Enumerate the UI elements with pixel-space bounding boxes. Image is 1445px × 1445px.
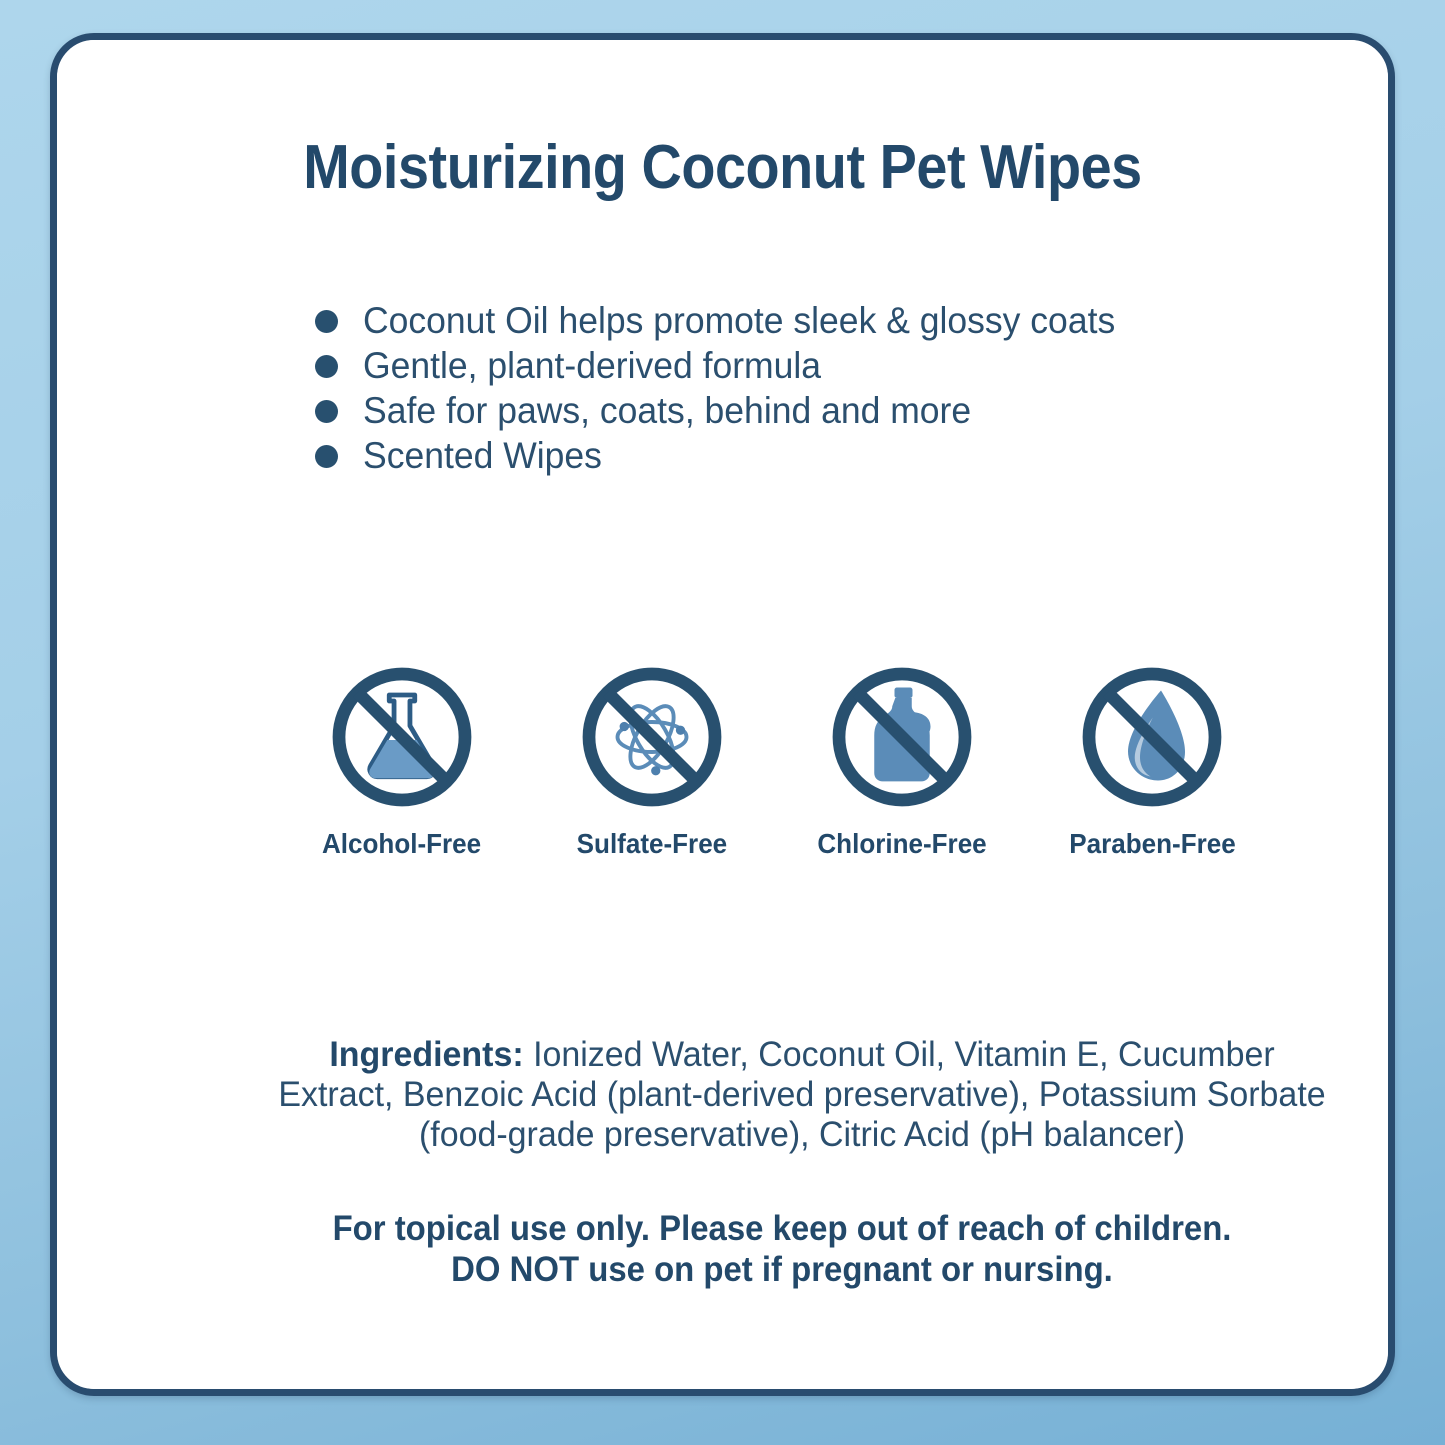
ingredients-paragraph: Ingredients: Ionized Water, Coconut Oil,… [278,1035,1326,1155]
badge-label: Paraben-Free [1069,828,1235,860]
benefit-text: Coconut Oil helps promote sleek & glossy… [363,298,1115,343]
badge-label: Alcohol-Free [322,828,481,860]
benefit-text: Gentle, plant-derived formula [363,343,821,388]
no-bleach-jug-icon [827,662,977,812]
no-atom-icon [577,662,727,812]
badge-label: Chlorine-Free [817,828,986,860]
list-item: Gentle, plant-derived formula [315,343,1265,388]
no-water-droplet-icon [1077,662,1227,812]
free-from-badges: Alcohol-Free [307,662,1247,860]
badge-label: Sulfate-Free [577,828,728,860]
badge-paraben-free: Paraben-Free [1057,662,1247,860]
bullet-dot-icon [315,355,338,378]
no-flask-icon [327,662,477,812]
list-item: Safe for paws, coats, behind and more [315,388,1265,433]
safety-warning: For topical use only. Please keep out of… [270,1208,1295,1290]
bullet-dot-icon [315,445,338,468]
warning-line-1: For topical use only. Please keep out of… [270,1208,1295,1249]
ingredients-heading: Ingredients: [329,1035,523,1074]
badge-alcohol-free: Alcohol-Free [307,662,497,860]
benefits-list: Coconut Oil helps promote sleek & glossy… [315,298,1265,478]
product-card: Moisturizing Coconut Pet Wipes Coconut O… [57,40,1388,1389]
warning-line-2: DO NOT use on pet if pregnant or nursing… [270,1249,1295,1290]
page-title: Moisturizing Coconut Pet Wipes [124,132,1322,203]
list-item: Scented Wipes [315,433,1265,478]
bullet-dot-icon [315,310,338,333]
badge-chlorine-free: Chlorine-Free [807,662,997,860]
product-infographic: Moisturizing Coconut Pet Wipes Coconut O… [0,0,1445,1445]
bullet-dot-icon [315,400,338,423]
product-card-frame: Moisturizing Coconut Pet Wipes Coconut O… [50,33,1395,1396]
benefit-text: Scented Wipes [363,433,602,478]
badge-sulfate-free: Sulfate-Free [557,662,747,860]
list-item: Coconut Oil helps promote sleek & glossy… [315,298,1265,343]
benefit-text: Safe for paws, coats, behind and more [363,388,971,433]
